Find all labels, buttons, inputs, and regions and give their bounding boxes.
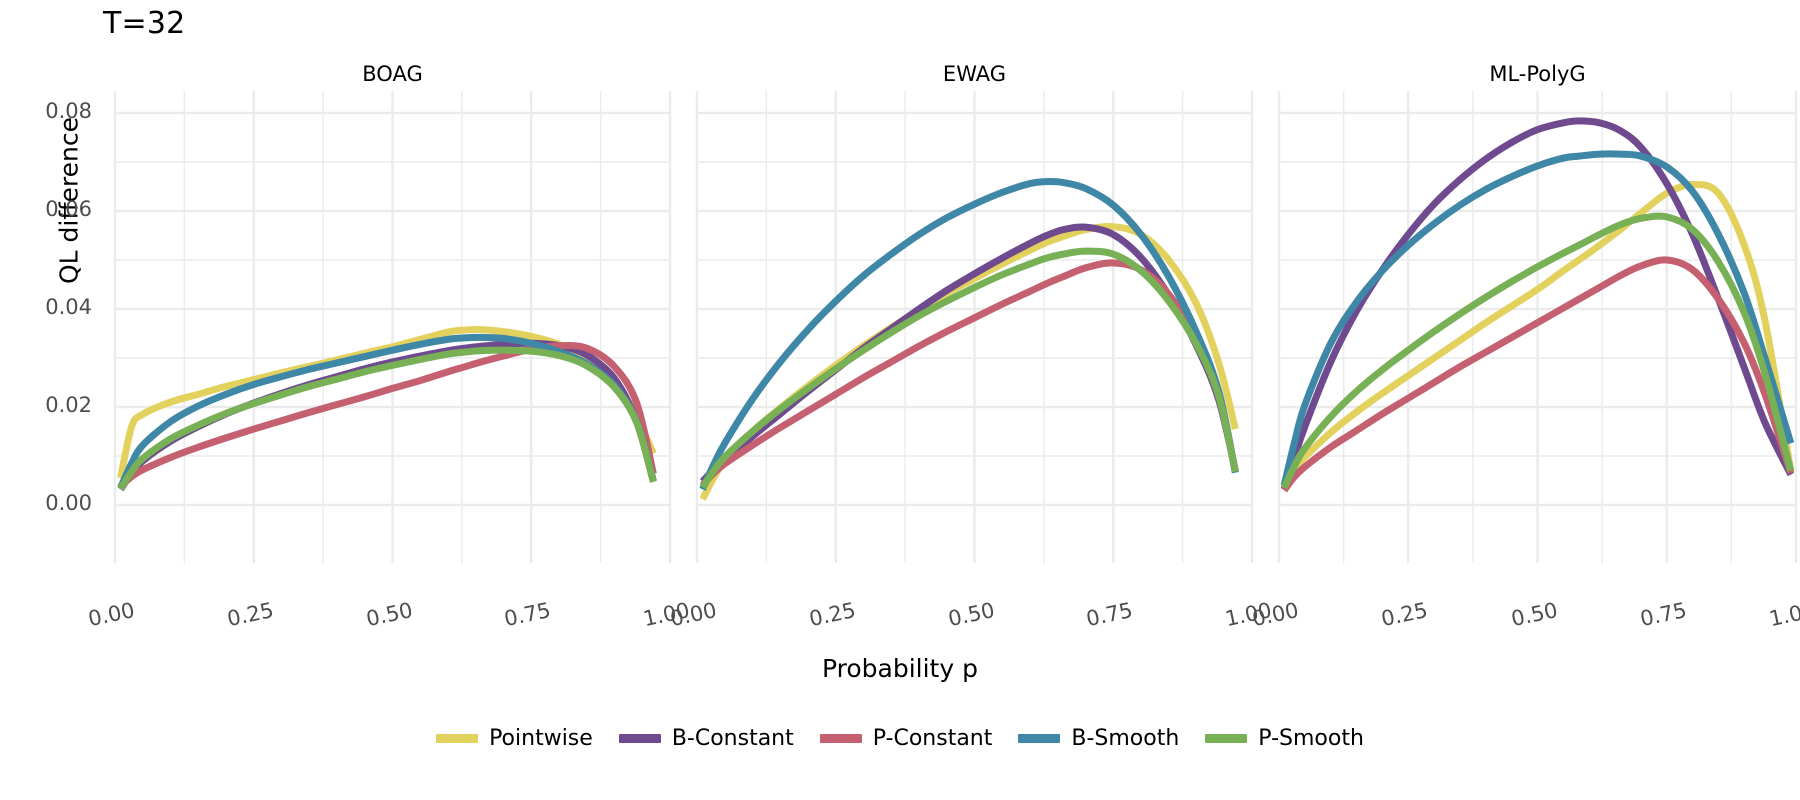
plot-canvas <box>0 0 1800 800</box>
legend: PointwiseB-ConstantP-ConstantB-SmoothP-S… <box>0 726 1800 751</box>
panel-boag <box>115 91 670 563</box>
legend-label: B-Constant <box>672 726 794 751</box>
legend-item-p-smooth[interactable]: P-Smooth <box>1205 726 1364 751</box>
legend-item-b-constant[interactable]: B-Constant <box>619 726 794 751</box>
legend-swatch-icon <box>619 734 661 743</box>
legend-swatch-icon <box>1018 734 1060 743</box>
legend-item-p-constant[interactable]: P-Constant <box>820 726 993 751</box>
panel-ewag <box>697 91 1252 563</box>
legend-swatch-icon <box>436 734 478 743</box>
legend-label: B-Smooth <box>1071 726 1179 751</box>
legend-label: P-Constant <box>873 726 993 751</box>
chart-figure: T=32 BOAG EWAG ML-PolyG QL difference Pr… <box>0 0 1800 800</box>
legend-label: P-Smooth <box>1258 726 1364 751</box>
legend-swatch-icon <box>820 734 862 743</box>
legend-item-b-smooth[interactable]: B-Smooth <box>1018 726 1179 751</box>
legend-label: Pointwise <box>489 726 593 751</box>
legend-item-pointwise[interactable]: Pointwise <box>436 726 593 751</box>
legend-swatch-icon <box>1205 734 1247 743</box>
panel-ml-polyg <box>1279 91 1796 563</box>
